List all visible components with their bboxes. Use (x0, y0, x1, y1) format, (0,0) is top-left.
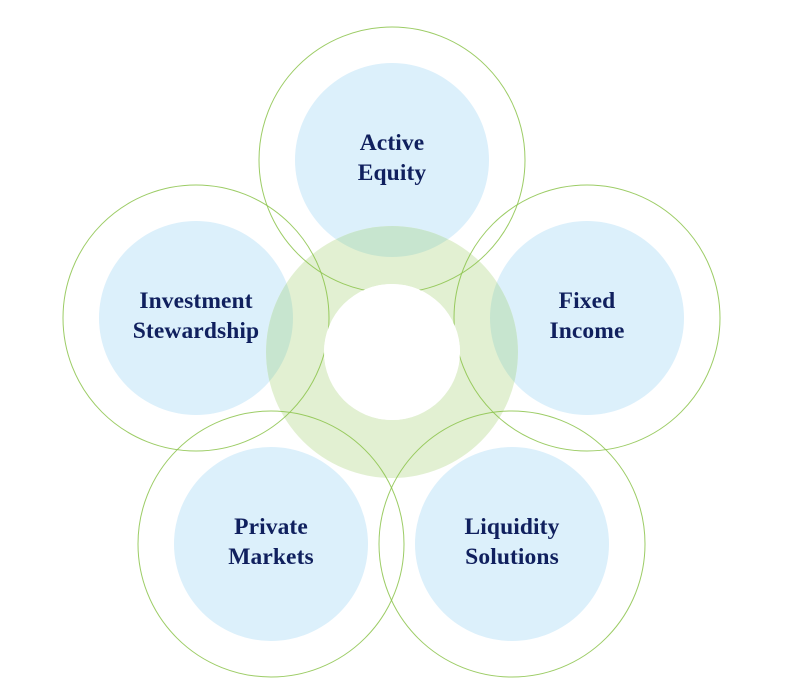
petal-label-line: Income (549, 318, 624, 344)
petal-label-line: Investment (139, 288, 252, 314)
petal-label-line: Stewardship (133, 318, 259, 344)
wheel-graphic: ActiveEquityFixedIncomeLiquiditySolution… (0, 0, 799, 679)
capability-wheel-diagram: ActiveEquityFixedIncomeLiquiditySolution… (0, 0, 799, 679)
petal-label-line: Solutions (465, 544, 559, 570)
hub-inner-hole (324, 284, 460, 420)
hub-outline-layer (324, 284, 460, 420)
petal-label-line: Liquidity (465, 514, 560, 540)
petal-label-line: Active (360, 130, 425, 156)
petal-label-line: Private (234, 514, 308, 540)
petal-label-line: Equity (358, 160, 427, 186)
petal-label-line: Fixed (559, 288, 616, 314)
petal-label-line: Markets (228, 544, 314, 570)
